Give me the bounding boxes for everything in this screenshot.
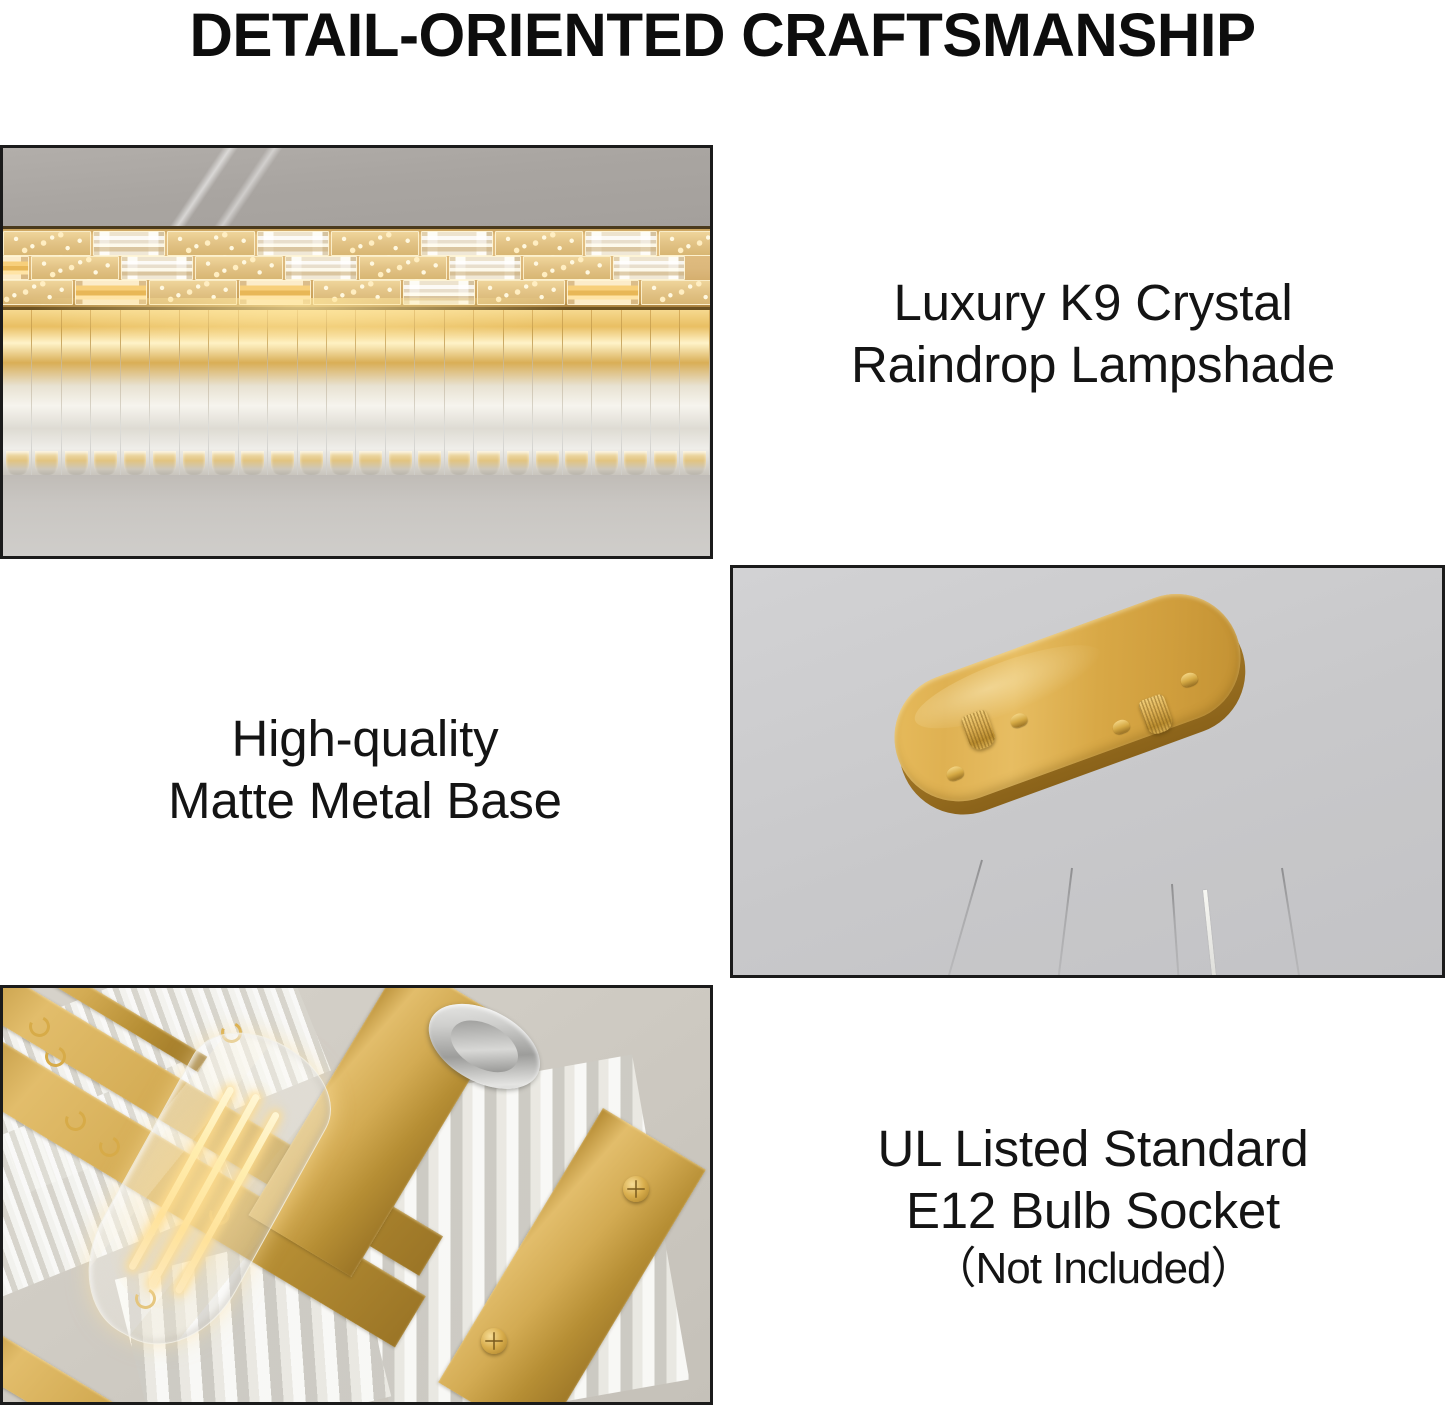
amber-crystal-brick <box>0 256 29 281</box>
crystal-raindrop-rods <box>3 310 710 475</box>
feature-caption-metal-base: High-quality Matte Metal Base <box>20 708 710 832</box>
ceiling-backdrop <box>3 148 710 226</box>
bubble-crystal-brick <box>495 231 583 256</box>
cable-grommet <box>945 764 965 782</box>
crystal-brick-row <box>0 256 710 281</box>
crystal-rod <box>327 310 355 475</box>
caption-note: （Not Included） <box>748 1242 1438 1296</box>
crystal-rod <box>3 310 31 475</box>
caption-line-2: E12 Bulb Socket <box>906 1182 1280 1239</box>
amber-crystal-brick <box>567 280 639 305</box>
crystal-rod <box>150 310 178 475</box>
cable-grommet <box>1179 670 1199 688</box>
threaded-nipple <box>960 708 998 752</box>
bubble-crystal-brick <box>0 280 73 305</box>
crystal-rod <box>209 310 237 475</box>
bubble-crystal-brick <box>641 280 713 305</box>
crystal-rod <box>533 310 561 475</box>
crystal-rod <box>298 310 326 475</box>
mounting-screw <box>481 1328 507 1354</box>
caption-line-1: UL Listed Standard <box>877 1120 1308 1177</box>
feature-image-metal-base <box>730 565 1445 978</box>
suspension-cable <box>1281 868 1301 978</box>
feature-image-crystal-lampshade <box>0 145 713 559</box>
feature-caption-crystal-lampshade: Luxury K9 Crystal Raindrop Lampshade <box>748 272 1438 396</box>
caption-line-1: Luxury K9 Crystal <box>893 274 1292 331</box>
bubble-crystal-brick <box>659 231 713 256</box>
bubble-crystal-brick <box>149 280 237 305</box>
bubble-crystal-brick <box>477 280 565 305</box>
caption-line-1: High-quality <box>232 710 499 767</box>
crystal-rod <box>62 310 90 475</box>
crystal-rod <box>91 310 119 475</box>
crystal-brick-row <box>0 280 710 305</box>
crystal-rod <box>622 310 650 475</box>
clear-crystal-brick <box>257 231 329 256</box>
bubble-crystal-brick <box>195 256 283 281</box>
crystal-rod <box>386 310 414 475</box>
photo-backdrop-lower <box>3 475 710 556</box>
crystal-rod <box>504 310 532 475</box>
crystal-rod <box>356 310 384 475</box>
crystal-rod <box>680 310 708 475</box>
canopy-face-plate <box>876 576 1258 819</box>
feature-caption-bulb-socket: UL Listed Standard E12 Bulb Socket （Not … <box>748 1118 1438 1296</box>
ceiling-canopy <box>876 565 1339 939</box>
bubble-crystal-brick <box>331 231 419 256</box>
crystal-rod <box>121 310 149 475</box>
suspension-cable <box>1171 884 1180 978</box>
crystal-rod <box>268 310 296 475</box>
clear-crystal-brick <box>285 256 357 281</box>
clear-crystal-brick <box>121 256 193 281</box>
clear-crystal-brick <box>421 231 493 256</box>
crystal-rod <box>563 310 591 475</box>
bulb-photo-backdrop <box>3 988 710 1402</box>
crystal-rod <box>180 310 208 475</box>
bubble-crystal-brick <box>167 231 255 256</box>
caption-line-2: Raindrop Lampshade <box>851 336 1335 393</box>
crystal-rod <box>592 310 620 475</box>
mounting-screw <box>623 1176 649 1202</box>
clear-crystal-brick <box>449 256 521 281</box>
suspension-wire-clear <box>1203 890 1217 978</box>
clear-crystal-brick <box>585 231 657 256</box>
amber-crystal-brick <box>239 280 311 305</box>
amber-crystal-brick <box>75 280 147 305</box>
crystal-rod <box>474 310 502 475</box>
crystal-rod <box>651 310 679 475</box>
caption-line-2: Matte Metal Base <box>168 772 562 829</box>
crystal-rod <box>445 310 473 475</box>
bubble-crystal-brick <box>3 231 91 256</box>
page-title: DETAIL-ORIENTED CRAFTSMANSHIP <box>11 0 1434 70</box>
clear-crystal-brick <box>613 256 685 281</box>
crystal-rod <box>415 310 443 475</box>
clear-crystal-brick <box>93 231 165 256</box>
bubble-crystal-brick <box>359 256 447 281</box>
clear-crystal-brick <box>403 280 475 305</box>
bubble-crystal-brick <box>523 256 611 281</box>
bubble-crystal-brick <box>313 280 401 305</box>
crystal-rod <box>32 310 60 475</box>
crystal-brick-band <box>3 226 710 310</box>
cable-grommet <box>1009 711 1029 729</box>
bubble-crystal-brick <box>31 256 119 281</box>
crystal-rod <box>239 310 267 475</box>
crystal-brick-row <box>3 231 710 256</box>
cable-grommet <box>1111 718 1131 736</box>
feature-image-bulb-socket <box>0 985 713 1405</box>
